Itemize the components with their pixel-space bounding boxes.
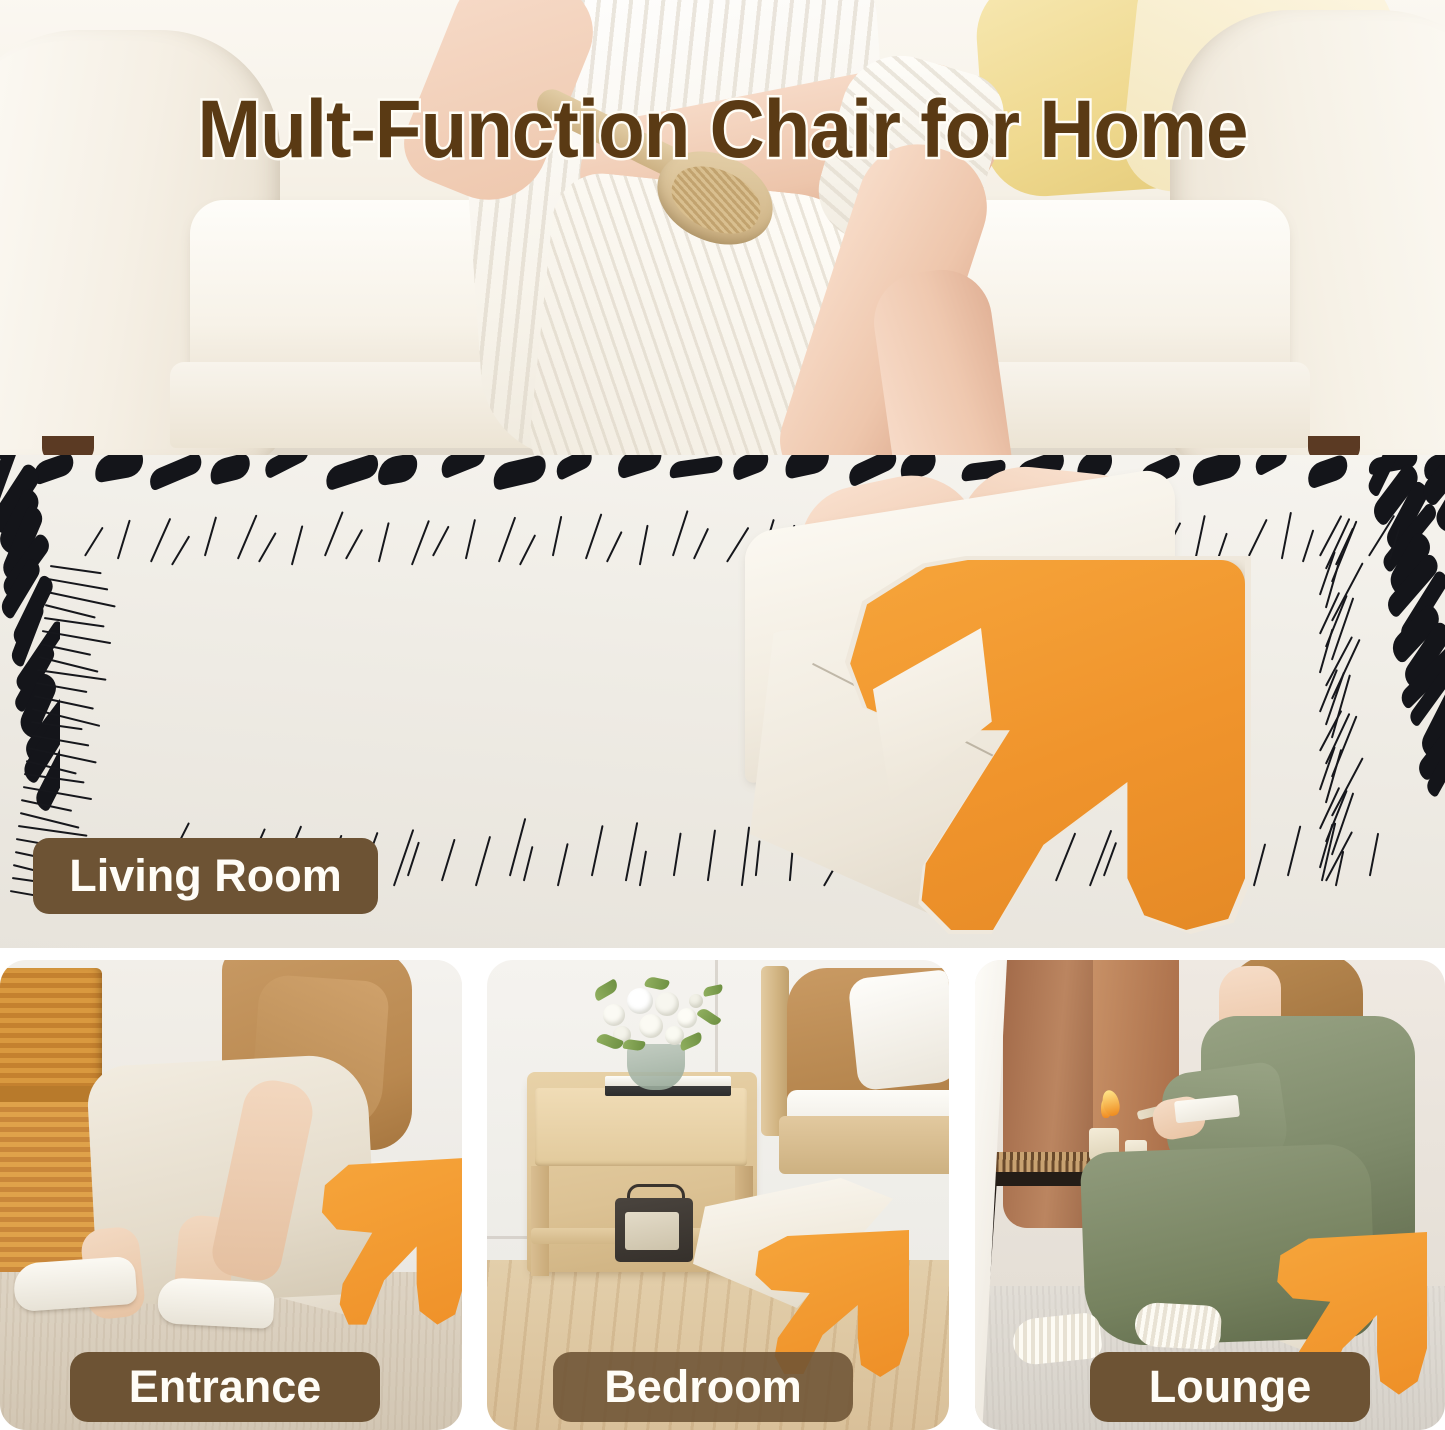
badge-living-room: Living Room xyxy=(33,838,378,914)
nightstand-leg-left xyxy=(531,1166,549,1276)
shoe-cabinet-divider xyxy=(0,1086,102,1102)
bed-pillow xyxy=(847,969,949,1091)
bed-frame xyxy=(779,1116,949,1174)
rug-border-right xyxy=(1345,455,1445,948)
badge-living-room-label: Living Room xyxy=(69,850,341,902)
flower-bouquet xyxy=(593,978,721,1060)
badge-bedroom: Bedroom xyxy=(553,1352,853,1422)
badge-entrance-label: Entrance xyxy=(129,1361,322,1413)
radio-speaker-face xyxy=(625,1212,679,1250)
badge-bedroom-label: Bedroom xyxy=(604,1361,802,1413)
badge-entrance: Entrance xyxy=(70,1352,380,1422)
badge-lounge: Lounge xyxy=(1090,1352,1370,1422)
sneaker-right xyxy=(157,1277,275,1329)
slipper-right xyxy=(1134,1302,1222,1350)
nightstand-drawer xyxy=(535,1088,747,1166)
bed-post xyxy=(761,966,789,1136)
badge-lounge-label: Lounge xyxy=(1149,1361,1311,1413)
product-chair-hero xyxy=(755,500,1255,930)
sneaker-left xyxy=(12,1256,137,1312)
page-title: Mult-Function Chair for Home xyxy=(51,83,1395,177)
